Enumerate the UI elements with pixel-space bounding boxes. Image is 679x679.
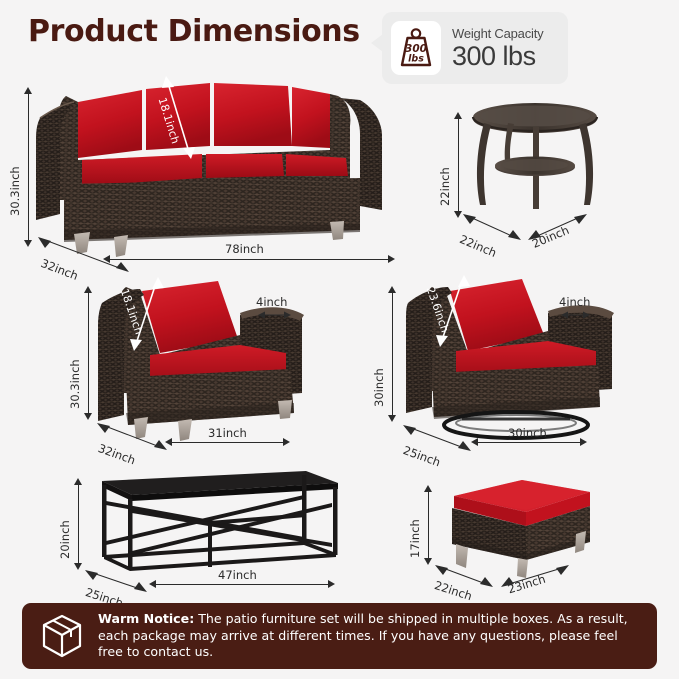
coffee-table-illustration: [80, 465, 360, 580]
swivel-chair-height-arrow-top: [388, 286, 396, 293]
weight-capacity-caption: Weight Capacity: [452, 27, 543, 40]
coffee-table-height-arrow-bottom: [74, 563, 82, 570]
swivel-chair-arm-label: 4inch: [559, 295, 590, 309]
coffee-table-height-label: 20inch: [58, 520, 72, 559]
swivel-chair-height-arrow-bottom: [388, 415, 396, 422]
side-table-height-arrow-top: [454, 112, 462, 119]
swivel-chair-figure: 30inch 25inch 30inch 23.6inch 4inch: [360, 265, 679, 465]
swivel-chair-arm-arrow: [561, 309, 591, 321]
warm-notice-banner: Warm Notice: The patio furniture set wil…: [22, 603, 657, 669]
ottoman-height-label: 17inch: [408, 519, 422, 558]
sofa-figure: 30.3inch 32inch 78inch 18.1inch: [0, 60, 420, 270]
ottoman-height-line: [428, 492, 429, 558]
coffee-table-width-line: [156, 584, 328, 585]
armchair-arm-label: 4inch: [256, 295, 287, 309]
swivel-chair-width-label: 30inch: [508, 426, 547, 440]
side-table-height-label: 22inch: [438, 167, 452, 206]
coffee-table-height-line: [78, 485, 79, 563]
armchair-height-arrow-bottom: [84, 413, 92, 420]
sofa-height-label: 30.3inch: [8, 166, 22, 216]
sofa-width-arrow-right: [388, 255, 395, 263]
ottoman-height-arrow-bottom: [424, 558, 432, 565]
armchair-width-arrow-left: [165, 438, 172, 446]
coffee-table-width-label: 47inch: [218, 568, 257, 582]
armchair-figure: 30.3inch 32inch 31inch 18.1inch 4inch: [60, 265, 360, 465]
side-table-height-arrow-bottom: [454, 211, 462, 218]
ottoman-height-arrow-top: [424, 485, 432, 492]
coffee-table-width-arrow-right: [328, 580, 335, 588]
weight-badge-text: Weight Capacity 300 lbs: [452, 27, 543, 70]
armchair-width-line: [172, 442, 283, 443]
armchair-width-arrow-right: [283, 438, 290, 446]
ottoman-figure: 17inch 22inch 23inch: [390, 460, 679, 595]
page-title: Product Dimensions: [28, 14, 360, 49]
coffee-table-height-arrow-top: [74, 478, 82, 485]
armchair-height-line: [88, 293, 89, 413]
coffee-table-width-arrow-left: [149, 580, 156, 588]
sofa-illustration: [30, 74, 390, 259]
weight-capacity-value: 300 lbs: [452, 43, 543, 70]
sofa-width-label: 78inch: [225, 242, 264, 256]
armchair-width-label: 31inch: [208, 426, 247, 440]
infographic-canvas: Product Dimensions 300 lbs Weight Capaci…: [0, 0, 679, 679]
sofa-height-line: [28, 94, 29, 240]
sofa-width-line: [110, 259, 388, 260]
badge-tail: [371, 34, 383, 52]
swivel-chair-height-line: [392, 293, 393, 415]
swivel-chair-width-arrow-right: [580, 438, 587, 446]
side-table-height-line: [458, 119, 459, 211]
swivel-chair-height-label: 30inch: [372, 368, 386, 407]
armchair-height-arrow-top: [84, 286, 92, 293]
package-box-icon: [40, 613, 84, 659]
armchair-arm-arrow: [258, 309, 292, 321]
sofa-height-arrow-top: [24, 87, 32, 94]
swivel-chair-width-line: [478, 442, 580, 443]
coffee-table-figure: 20inch 25inch 47inch: [50, 455, 380, 595]
armchair-height-label: 30.3inch: [68, 359, 82, 409]
warm-notice-text: Warm Notice: The patio furniture set wil…: [98, 611, 643, 661]
sofa-width-arrow-left: [103, 255, 110, 263]
warm-notice-label: Warm Notice:: [98, 611, 194, 626]
sofa-height-arrow-bottom: [24, 240, 32, 247]
swivel-chair-width-arrow-left: [471, 438, 478, 446]
side-table-figure: 22inch 22inch 20inch: [420, 95, 679, 270]
